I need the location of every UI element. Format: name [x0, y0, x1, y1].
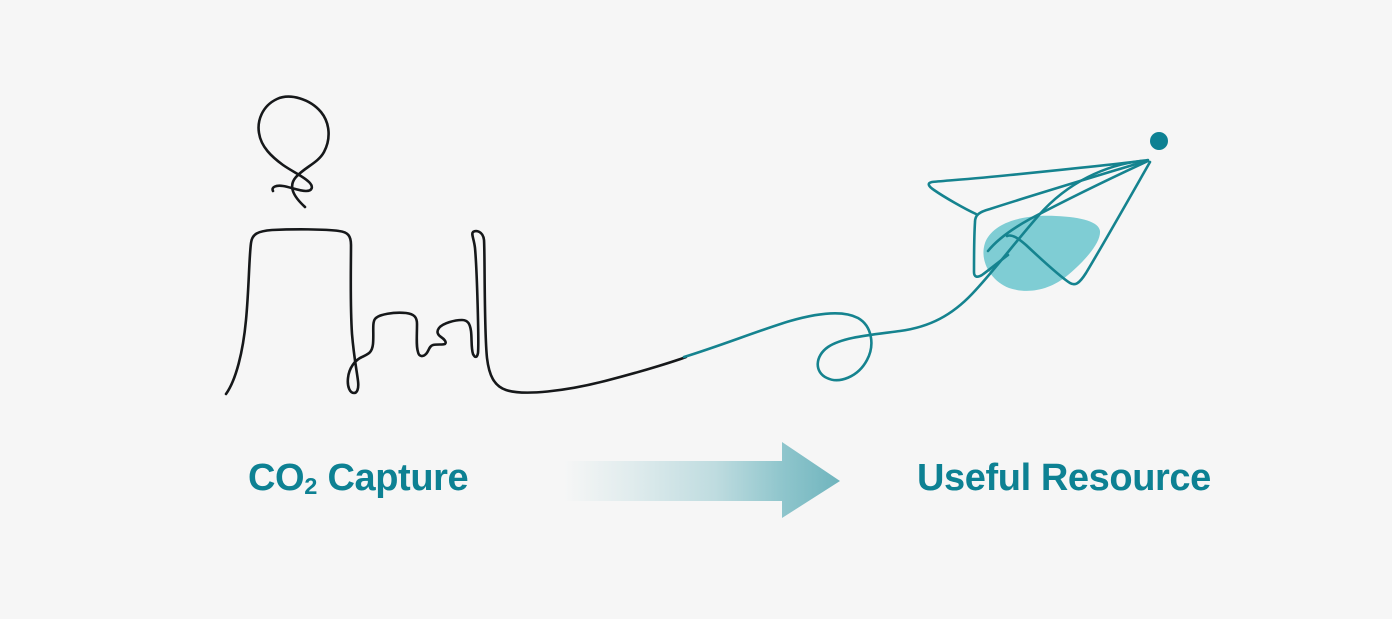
label-co2-subscript: 2: [304, 473, 317, 499]
illustration-scene: CO2 Capture Useful Resource: [0, 0, 1392, 619]
smoke-plume-loop: [259, 97, 329, 207]
transition-arrow: [563, 442, 840, 518]
label-co2-capture: CO2 Capture: [248, 459, 468, 497]
illustration-artwork: [0, 0, 1392, 619]
label-co2-capture-suffix: Capture: [317, 457, 468, 499]
teal-dot: [1150, 132, 1168, 150]
paper-plane-wing-upper: [929, 160, 1148, 214]
label-useful-resource: Useful Resource: [917, 459, 1211, 497]
label-co2-capture-prefix: CO: [248, 457, 304, 499]
factory-line-drawing: [226, 229, 686, 394]
